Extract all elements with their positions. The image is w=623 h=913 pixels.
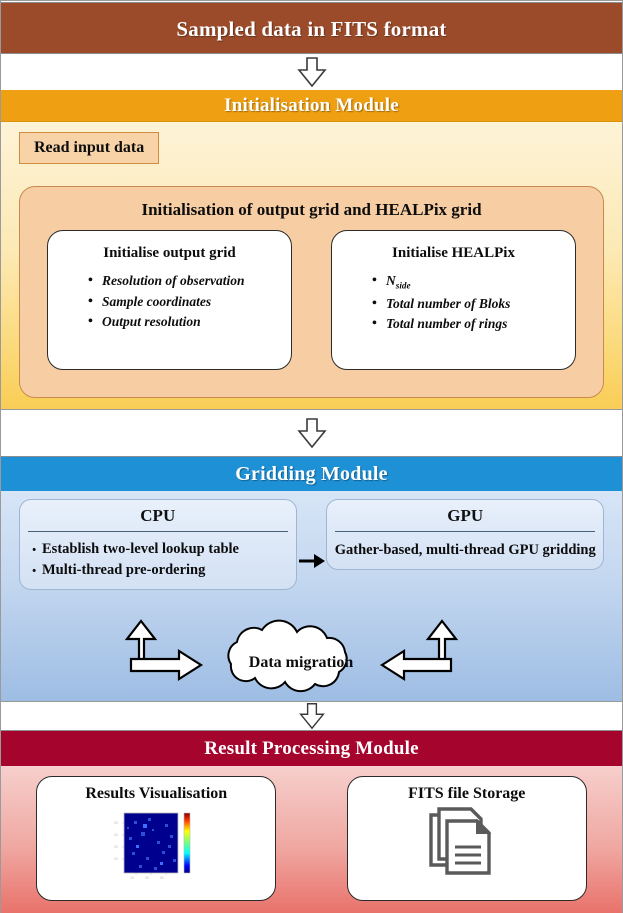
initialisation-module-header: Initialisation Module bbox=[1, 90, 622, 122]
sampled-data-bar: Sampled data in FITS format bbox=[1, 2, 622, 54]
down-block-arrow-icon bbox=[294, 56, 330, 88]
healpix-item-list: Nside Total number of Bloks Total number… bbox=[332, 271, 575, 335]
cpu-card: CPU Establish two-level lookup table Mul… bbox=[19, 499, 297, 590]
gpu-title: GPU bbox=[335, 506, 595, 532]
result-processing-module-header: Result Processing Module bbox=[1, 730, 622, 766]
initialise-output-grid-title: Initialise output grid bbox=[48, 245, 291, 262]
list-item: Output resolution bbox=[88, 312, 291, 333]
svg-text:10: 10 bbox=[130, 876, 134, 880]
documents-icon bbox=[425, 807, 509, 885]
gpu-migration-arrows-icon bbox=[382, 621, 456, 679]
initialisation-module-body: Read input data Initialisation of output… bbox=[1, 122, 622, 410]
down-block-arrow-icon bbox=[294, 417, 330, 449]
gridding-module-header: Gridding Module bbox=[1, 456, 622, 491]
result-cards: Results Visualisation bbox=[1, 766, 622, 901]
svg-text:50: 50 bbox=[160, 876, 164, 880]
arrow-init-to-gridding bbox=[1, 410, 622, 456]
cpu-gpu-row: CPU Establish two-level lookup table Mul… bbox=[1, 491, 622, 590]
nside-symbol: N bbox=[386, 273, 396, 288]
list-item: Multi-thread pre-ordering bbox=[30, 560, 296, 581]
cpu-title: CPU bbox=[28, 506, 288, 532]
initialisation-module: Initialisation Module Read input data In… bbox=[1, 90, 622, 410]
arrow-right-icon bbox=[298, 551, 326, 571]
flowchart-diagram: Sampled data in FITS format Initialisati… bbox=[0, 0, 623, 913]
data-migration-zone: Data migration bbox=[1, 609, 622, 699]
cpu-item-list: Establish two-level lookup table Multi-t… bbox=[20, 539, 296, 581]
nside-subscript: side bbox=[396, 281, 411, 291]
gridding-module: Gridding Module CPU Establish two-level … bbox=[1, 456, 622, 702]
initialise-healpix-card: Initialise HEALPix Nside Total number of… bbox=[331, 230, 576, 370]
initialisation-group-title: Initialisation of output grid and HEALPi… bbox=[20, 200, 603, 220]
fits-file-storage-title: FITS file Storage bbox=[408, 785, 525, 803]
gpu-description: Gather-based, multi-thread GPU gridding bbox=[327, 539, 603, 561]
down-block-arrow-icon bbox=[294, 702, 330, 730]
list-item: Nside bbox=[372, 271, 575, 294]
results-visualisation-title: Results Visualisation bbox=[85, 785, 227, 803]
initialisation-cards: Initialise output grid Resolution of obs… bbox=[20, 230, 603, 370]
sampled-data-label: Sampled data in FITS format bbox=[1, 2, 622, 54]
svg-text:50: 50 bbox=[114, 821, 118, 825]
arrow-top-to-init bbox=[1, 54, 622, 90]
heatmap-thumbnail-icon: 5040 3020 103050 bbox=[110, 807, 202, 885]
arrow-gridding-to-result bbox=[1, 702, 622, 730]
svg-text:30: 30 bbox=[145, 876, 149, 880]
gpu-card: GPU Gather-based, multi-thread GPU gridd… bbox=[326, 499, 604, 570]
list-item: Sample coordinates bbox=[88, 292, 291, 313]
list-item: Resolution of observation bbox=[88, 271, 291, 292]
svg-text:20: 20 bbox=[114, 857, 118, 861]
initialisation-group-panel: Initialisation of output grid and HEALPi… bbox=[19, 186, 604, 398]
cpu-migration-arrows-icon bbox=[127, 621, 201, 679]
results-visualisation-card: Results Visualisation bbox=[36, 776, 276, 901]
result-processing-module: Result Processing Module Results Visuali… bbox=[1, 730, 622, 913]
list-item: Establish two-level lookup table bbox=[30, 539, 296, 560]
result-processing-module-body: Results Visualisation bbox=[1, 766, 622, 913]
initialise-output-grid-card: Initialise output grid Resolution of obs… bbox=[47, 230, 292, 370]
svg-text:30: 30 bbox=[114, 845, 118, 849]
data-migration-label: Data migration bbox=[249, 654, 354, 671]
svg-text:40: 40 bbox=[114, 833, 118, 837]
list-item: Total number of Bloks bbox=[372, 294, 575, 315]
cpu-to-gpu-arrow bbox=[297, 499, 327, 571]
fits-file-storage-card: FITS file Storage bbox=[347, 776, 587, 901]
data-migration-graphic: Data migration bbox=[1, 609, 622, 699]
initialise-healpix-title: Initialise HEALPix bbox=[332, 245, 575, 262]
list-item: Total number of rings bbox=[372, 314, 575, 335]
output-grid-item-list: Resolution of observation Sample coordin… bbox=[48, 271, 291, 333]
read-input-data-box[interactable]: Read input data bbox=[19, 132, 159, 164]
gridding-module-body: CPU Establish two-level lookup table Mul… bbox=[1, 491, 622, 702]
